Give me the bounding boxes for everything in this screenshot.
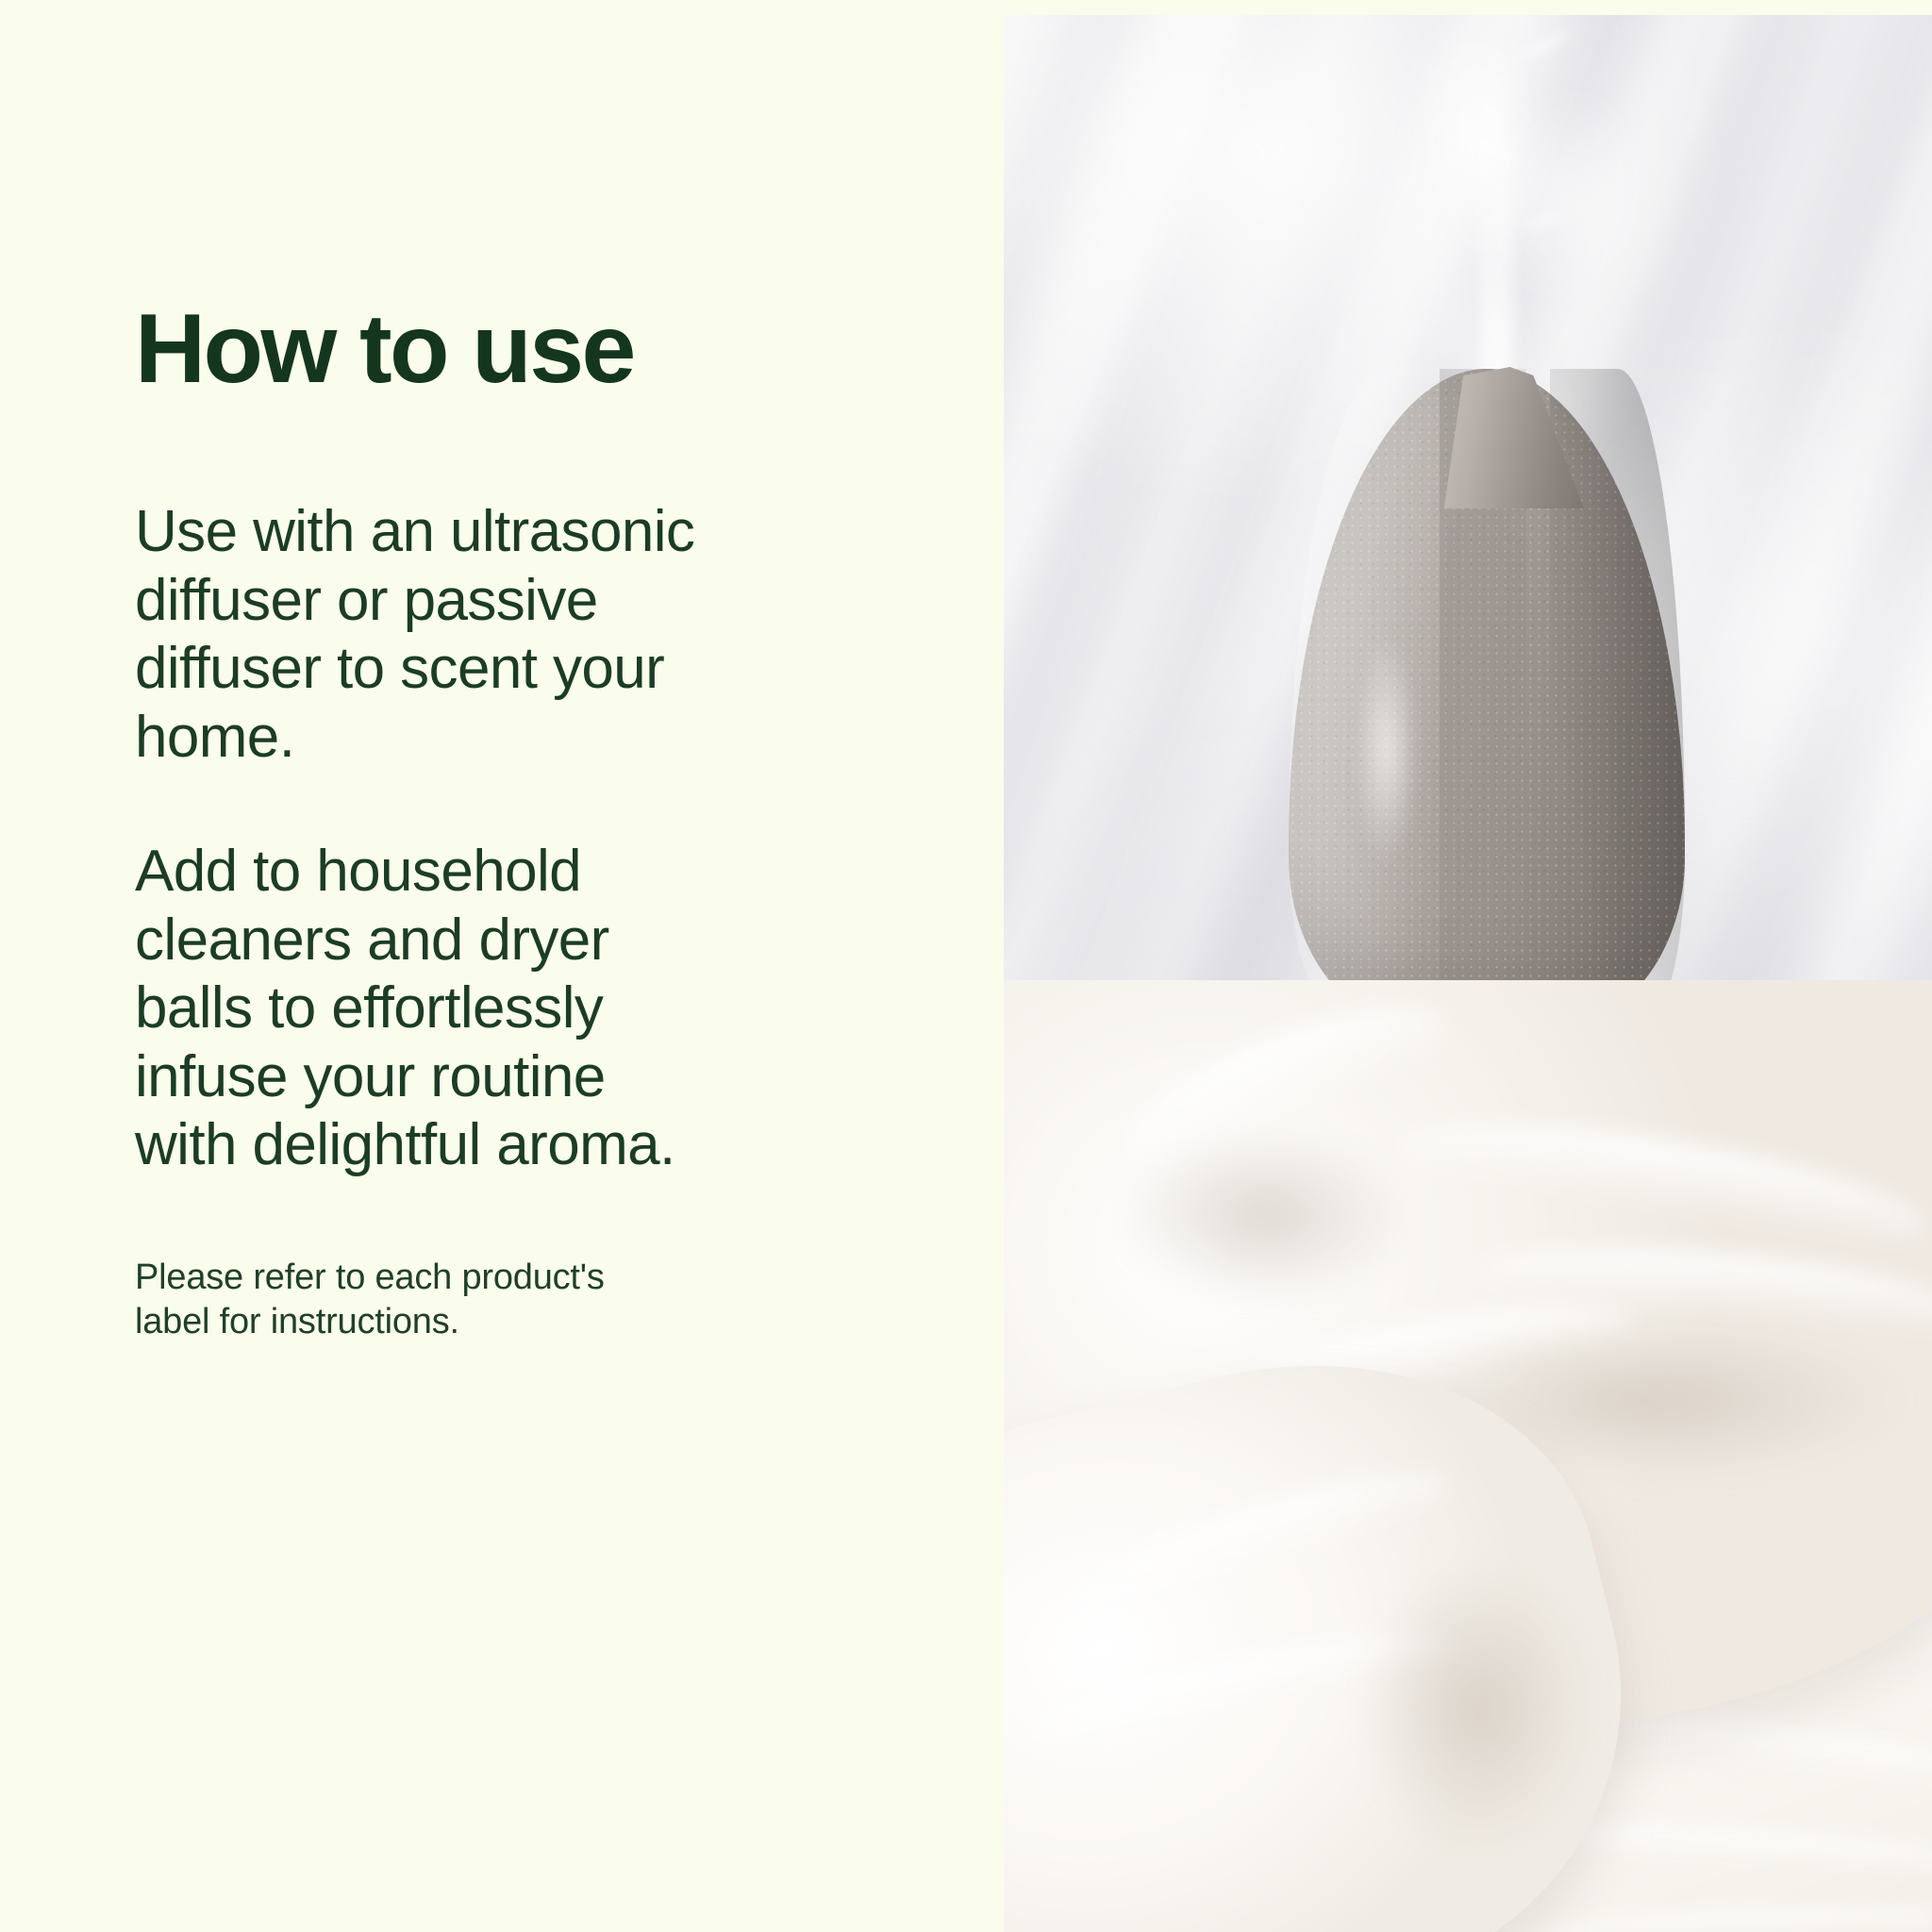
diffuser-scene	[1004, 15, 1932, 980]
pillow-shadow	[1315, 1508, 1636, 1905]
instruction-paragraph-2: Add to household cleaners and dryer ball…	[135, 772, 701, 1180]
vessel-facet-right	[1550, 369, 1685, 980]
label-disclaimer-footnote: Please refer to each product's label for…	[135, 1180, 625, 1344]
copy-panel: How to use Use with an ultrasonic diffus…	[0, 0, 966, 1932]
ultrasonic-diffuser-photo	[1004, 15, 1932, 980]
bedding-scene	[1004, 980, 1932, 1932]
how-to-use-card: How to use Use with an ultrasonic diffus…	[0, 0, 1932, 1932]
page-title: How to use	[135, 0, 966, 398]
instruction-paragraph-1: Use with an ultrasonic diffuser or passi…	[135, 398, 701, 772]
vessel-highlight	[1344, 593, 1429, 905]
diffuser-vessel	[1289, 369, 1685, 980]
media-column	[966, 0, 1932, 1932]
white-bedding-photo	[1004, 980, 1932, 1932]
